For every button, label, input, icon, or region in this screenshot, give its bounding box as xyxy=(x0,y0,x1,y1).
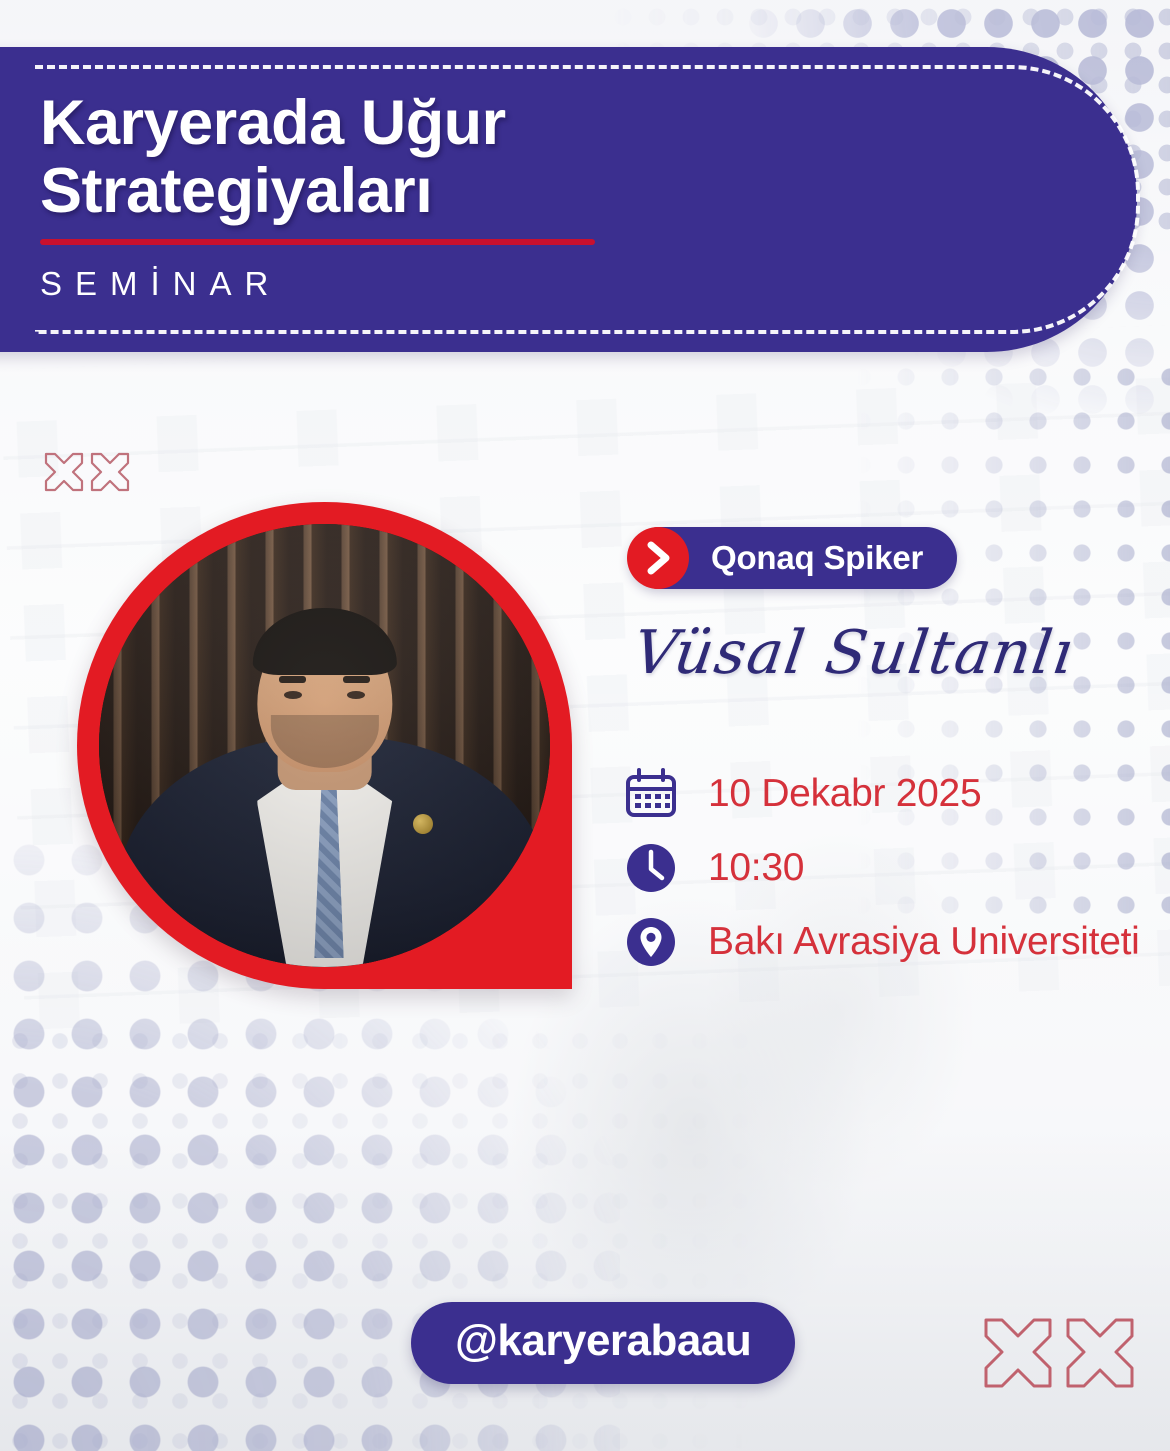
banner-content: Karyerada Uğur Strategiyaları SEMİNAR xyxy=(40,89,800,303)
clock-icon xyxy=(622,839,680,897)
guest-speaker-badge-label: Qonaq Spiker xyxy=(711,539,923,577)
poster-title-line-2: Strategiyaları xyxy=(40,157,800,225)
guest-speaker-badge: Qonaq Spiker xyxy=(628,527,957,589)
speaker-photo xyxy=(99,524,550,967)
poster-title-line-1: Karyerada Uğur xyxy=(40,89,800,157)
header-banner: Karyerada Uğur Strategiyaları SEMİNAR xyxy=(0,47,1137,352)
poster-subtitle: SEMİNAR xyxy=(40,265,800,303)
seminar-poster: Karyerada Uğur Strategiyaları SEMİNAR xyxy=(0,0,1170,1451)
social-handle-pill[interactable]: @karyerabaau xyxy=(411,1302,795,1384)
poster-title: Karyerada Uğur Strategiyaları xyxy=(40,89,800,225)
event-detail-location: Bakı Avrasiya Universiteti xyxy=(622,905,1152,979)
speaker-photo-frame xyxy=(77,502,572,989)
calendar-icon xyxy=(622,765,680,823)
event-date-label: 10 Dekabr 2025 xyxy=(708,772,981,816)
event-time-label: 10:30 xyxy=(708,846,804,890)
photo-vignette xyxy=(99,524,550,967)
event-detail-date: 10 Dekabr 2025 xyxy=(622,757,1152,831)
location-pin-icon xyxy=(622,913,680,971)
chevron-right-icon xyxy=(627,527,689,589)
event-details-list: 10 Dekabr 2025 10:30 Bakı Avrasiya Unive… xyxy=(622,757,1152,979)
event-location-label: Bakı Avrasiya Universiteti xyxy=(708,920,1139,964)
event-detail-time: 10:30 xyxy=(622,831,1152,905)
title-underline-rule xyxy=(40,239,595,245)
speaker-name: Vüsal Sultanlı xyxy=(629,618,1079,688)
